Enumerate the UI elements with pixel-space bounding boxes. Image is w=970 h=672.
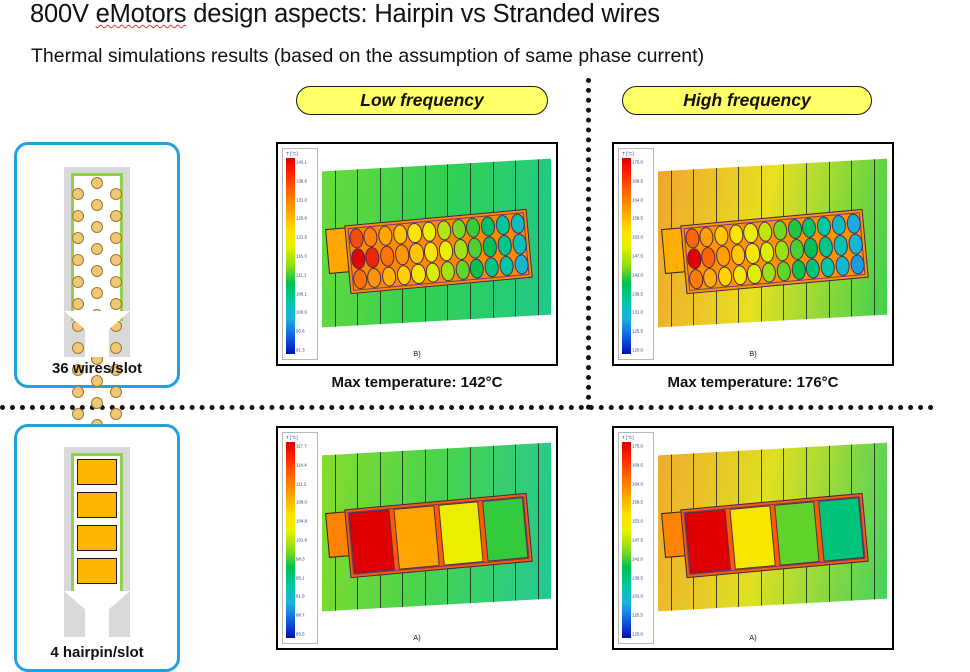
colorbar-title: T [°C] [621,435,652,442]
stranded-wire [91,287,103,299]
slot-card-stranded: 36 wires/slot [14,142,180,388]
colorbar-tick-labels: 175.0169.5164.0158.5153.0147.5142.0136.5… [632,442,652,638]
conductor-cell [510,213,526,234]
conductor-cell [686,248,702,269]
conductor-cell [818,236,834,257]
conductor-grid [348,213,529,291]
colorbar-tick: 108.0 [296,500,307,505]
wire-row [72,265,122,276]
mesh-line [539,442,551,599]
conductor-cell [480,216,496,237]
thermal-plot-low-frequency-hairpin: T [°C]117.7114.4111.2108.0104.8101.698.3… [276,426,558,650]
stranded-wire [72,232,84,244]
conductor-cell [791,260,807,281]
hairpin-bar [77,459,117,485]
stranded-wire [91,243,103,255]
column-header-low-frequency: Low frequency [296,86,548,115]
conductor-cell [759,242,775,263]
colorbar-tick: 136.5 [632,575,643,580]
wire-row [72,210,122,221]
conductor-cell [787,218,803,239]
stranded-wire [110,210,122,222]
thermal-plot-high-frequency-hairpin: T [°C]175.0169.5164.0158.5153.0147.5142.… [612,426,894,650]
colorbar-tick: 169.5 [632,462,643,467]
stranded-wire [72,276,84,288]
conductor-cell [802,217,818,238]
conductor-cell [816,216,832,237]
conductor-cell [789,239,805,260]
page-title-prefix: 800V [30,0,96,28]
colorbar-tick: 125.5 [632,613,643,618]
conductor-cell [714,225,730,246]
hairpin-bar-cell [349,510,395,574]
hairpin-bar-cell [393,506,439,570]
wire-row [72,276,122,287]
colorbar-tick: 158.5 [632,500,643,505]
wire-row [72,287,122,298]
stranded-wire [72,254,84,266]
colorbar-title: T [°C] [621,151,652,158]
conductor-grid [684,213,865,291]
hairpin-bar-cell [729,506,775,570]
colorbar-legend: T [°C]142.1136.6131.0126.6121.5116.3111.… [282,148,318,360]
stranded-wire [72,386,84,398]
conductor-cell [367,268,383,289]
conductor-cell [392,224,408,245]
conductor-cell [455,260,471,281]
conductor-cell [728,224,744,245]
colorbar-tick: 153.0 [632,519,643,524]
conductor-cell [701,247,717,268]
colorbar-gradient [622,442,631,638]
max-temperature-high-frequency: Max temperature: 176°C [612,371,894,393]
conductor-cell [512,234,528,255]
stranded-wire [72,298,84,310]
colorbar-tick: 95.1 [296,575,305,580]
colorbar-gradient [286,442,295,638]
stranded-wire [72,408,84,420]
conductor-cell [484,257,500,278]
conductor-cell [409,243,425,264]
conductor-cell [363,226,379,247]
conductor-cell [497,235,513,256]
wire-row [72,386,122,397]
conductor-cell [407,222,423,243]
conductor-cell [396,265,412,286]
plot-caption: A) [278,633,556,642]
hairpin-bar-stack [77,459,117,591]
colorbar-title: T [°C] [285,435,316,442]
stranded-wire [110,386,122,398]
conductor-cell [803,238,819,259]
page-title-suffix: design aspects: Hairpin vs Stranded wire… [186,0,660,28]
conductor-cell [772,220,788,241]
conductor-cell [747,264,763,285]
stranded-wire [72,342,84,354]
colorbar-legend: T [°C]175.0169.5164.0158.5153.0147.5142.… [618,432,654,644]
conductor-cell [482,236,498,257]
thermal-plot-low-frequency-stranded: T [°C]142.1136.6131.0126.6121.5116.3111.… [276,142,558,366]
hairpin-bar-cell [438,501,484,565]
conductor-cell [352,269,368,290]
conductor-cell [732,265,748,286]
colorbar-tick: 142.0 [632,272,643,277]
conductor-cell [453,239,469,260]
colorbar-tick: 100.6 [296,310,307,315]
thermal-field [322,154,551,340]
colorbar-tick: 88.7 [296,613,305,618]
hairpin-bar [77,525,117,551]
colorbar-gradient [286,158,295,354]
conductor-cell [849,254,865,275]
colorbar-tick: 111.1 [296,272,306,277]
conductor-cell [745,243,761,264]
thermal-field [322,438,551,624]
column-header-high-frequency: High frequency [622,86,872,115]
colorbar-legend: T [°C]175.0169.5164.0158.5153.0147.5142.… [618,148,654,360]
hairpin-bar-cell [819,497,865,561]
plot-caption: B) [614,349,892,358]
conductor-cell [423,242,439,263]
plot-caption: A) [614,633,892,642]
colorbar-tick: 126.6 [296,216,307,221]
colorbar-body: 175.0169.5164.0158.5153.0147.5142.0136.5… [621,442,652,638]
stranded-wire [110,298,122,310]
conductor-cell [758,221,774,242]
stranded-wire [110,188,122,200]
colorbar-tick: 142.0 [632,556,643,561]
page-title: 800V eMotors design aspects: Hairpin vs … [30,0,940,29]
colorbar-tick: 111.2 [296,481,306,486]
colorbar-tick: 116.3 [296,254,307,259]
page-subtitle: Thermal simulations results (based on th… [31,45,941,68]
thermal-plot-high-frequency-stranded: T [°C]175.0169.5164.0158.5153.0147.5142.… [612,142,894,366]
slot-label-hairpin: 4 hairpin/slot [17,644,177,661]
mesh-line [539,158,551,315]
page-title-emphasis: eMotors [96,0,187,28]
conductor-cell [436,220,452,241]
wire-row [72,254,122,265]
conductor-cell [365,247,381,268]
conductor-cell [774,240,790,261]
conductor-cell [776,261,792,282]
wire-row [72,397,122,408]
thermal-field [658,438,887,624]
mesh-line [875,158,887,315]
colorbar-tick: 175.0 [632,159,643,164]
wire-row [72,243,122,254]
conductor-cell [495,214,511,235]
colorbar-tick: 101.6 [296,538,307,543]
wire-row [72,232,122,243]
hairpin-bar [77,492,117,518]
conductor-cell [467,238,483,259]
wire-row [72,199,122,210]
colorbar-tick: 91.9 [296,594,305,599]
conductor-cell [688,269,704,290]
conductor-cell [350,248,366,269]
slot-cross-section-hairpin [64,447,130,637]
conductor-cell [469,258,485,279]
colorbar-tick: 106.1 [296,291,307,296]
colorbar-tick: 175.0 [632,443,643,448]
colorbar-tick: 117.7 [296,443,307,448]
stranded-wire [91,199,103,211]
max-temperature-low-frequency: Max temperature: 142°C [276,371,558,393]
conductor-cell [422,221,438,242]
colorbar-tick: 147.5 [632,538,643,543]
conductor-cell [805,258,821,279]
stranded-wire-bundle [72,177,122,441]
slot-label-stranded: 36 wires/slot [17,360,177,377]
colorbar-tick-labels: 117.7114.4111.2108.0104.8101.698.395.191… [296,442,316,638]
stranded-wire [91,397,103,409]
stranded-wire [72,210,84,222]
stranded-wire [110,276,122,288]
colorbar-tick: 131.0 [632,310,643,315]
colorbar-tick: 104.8 [296,519,307,524]
conductor-cell [761,262,777,283]
conductor-cell [831,214,847,235]
conductor-cell [513,254,529,275]
wire-row [72,188,122,199]
wire-row [72,408,122,419]
conductor-cell [743,222,759,243]
conductor-cell [451,218,467,239]
conductor-cell [820,257,836,278]
conductor-cell [833,235,849,256]
conductor-cell [466,217,482,238]
colorbar-gradient [622,158,631,354]
conductor-cell [440,261,456,282]
colorbar-tick: 153.0 [632,235,643,240]
conductor-cell [394,244,410,265]
conductor-cell [699,226,715,247]
mesh-line [875,442,887,599]
colorbar-tick: 142.1 [296,159,307,164]
hairpin-bar [77,558,117,584]
conductor-cell [717,266,733,287]
wire-row [72,177,122,188]
wire-row [72,298,122,309]
colorbar-tick: 164.0 [632,197,643,202]
stranded-wire [110,254,122,266]
colorbar-tick: 131.0 [632,594,643,599]
colorbar-tick: 121.5 [296,235,307,240]
stranded-wire [91,265,103,277]
colorbar-tick: 164.0 [632,481,643,486]
conductor-cell [425,262,441,283]
colorbar-tick: 169.5 [632,178,643,183]
conductor-cell [684,228,700,249]
colorbar-body: 175.0169.5164.0158.5153.0147.5142.0136.5… [621,158,652,354]
conductor-cell [703,268,719,289]
thermal-field [658,154,887,340]
colorbar-tick: 136.6 [296,178,307,183]
conductor-cell [438,240,454,261]
conductor-cell [715,246,731,267]
colorbar-tick: 95.6 [296,329,305,334]
colorbar-tick-labels: 142.1136.6131.0126.6121.5116.3111.1106.1… [296,158,316,354]
colorbar-tick: 136.5 [632,291,643,296]
hairpin-bar-cell [483,497,529,561]
slot-cross-section-stranded [64,167,130,357]
colorbar-tick: 114.4 [296,462,307,467]
stranded-wire [91,221,103,233]
colorbar-tick: 131.0 [296,197,307,202]
conductor-cell [835,256,851,277]
colorbar-tick-labels: 175.0169.5164.0158.5153.0147.5142.0136.5… [632,158,652,354]
hairpin-bar-cell [685,510,731,574]
stranded-wire [110,408,122,420]
horizontal-divider [0,405,934,410]
conductor-cell [411,264,427,285]
conductor-cell [730,244,746,265]
wire-row [72,221,122,232]
conductor-cell [378,225,394,246]
conductor-cell [348,228,364,249]
colorbar-legend: T [°C]117.7114.4111.2108.0104.8101.698.3… [282,432,318,644]
stranded-wire [110,232,122,244]
slot-card-hairpin: 4 hairpin/slot [14,424,180,672]
colorbar-tick: 98.3 [296,556,305,561]
colorbar-tick: 147.5 [632,254,643,259]
hairpin-bar-cell [774,501,820,565]
conductor-cell [379,246,395,267]
vertical-divider [586,78,591,410]
colorbar-tick: 158.5 [632,216,643,221]
colorbar-title: T [°C] [285,151,316,158]
colorbar-body: 117.7114.4111.2108.0104.8101.698.395.191… [285,442,316,638]
conductor-cell [846,213,862,234]
plot-caption: B) [278,349,556,358]
stranded-wire [72,188,84,200]
conductor-cell [499,256,515,277]
conductor-cell [381,266,397,287]
stranded-wire [91,177,103,189]
stranded-wire [110,342,122,354]
colorbar-tick: 125.5 [632,329,643,334]
conductor-cell [848,234,864,255]
colorbar-body: 142.1136.6131.0126.6121.5116.3111.1106.1… [285,158,316,354]
